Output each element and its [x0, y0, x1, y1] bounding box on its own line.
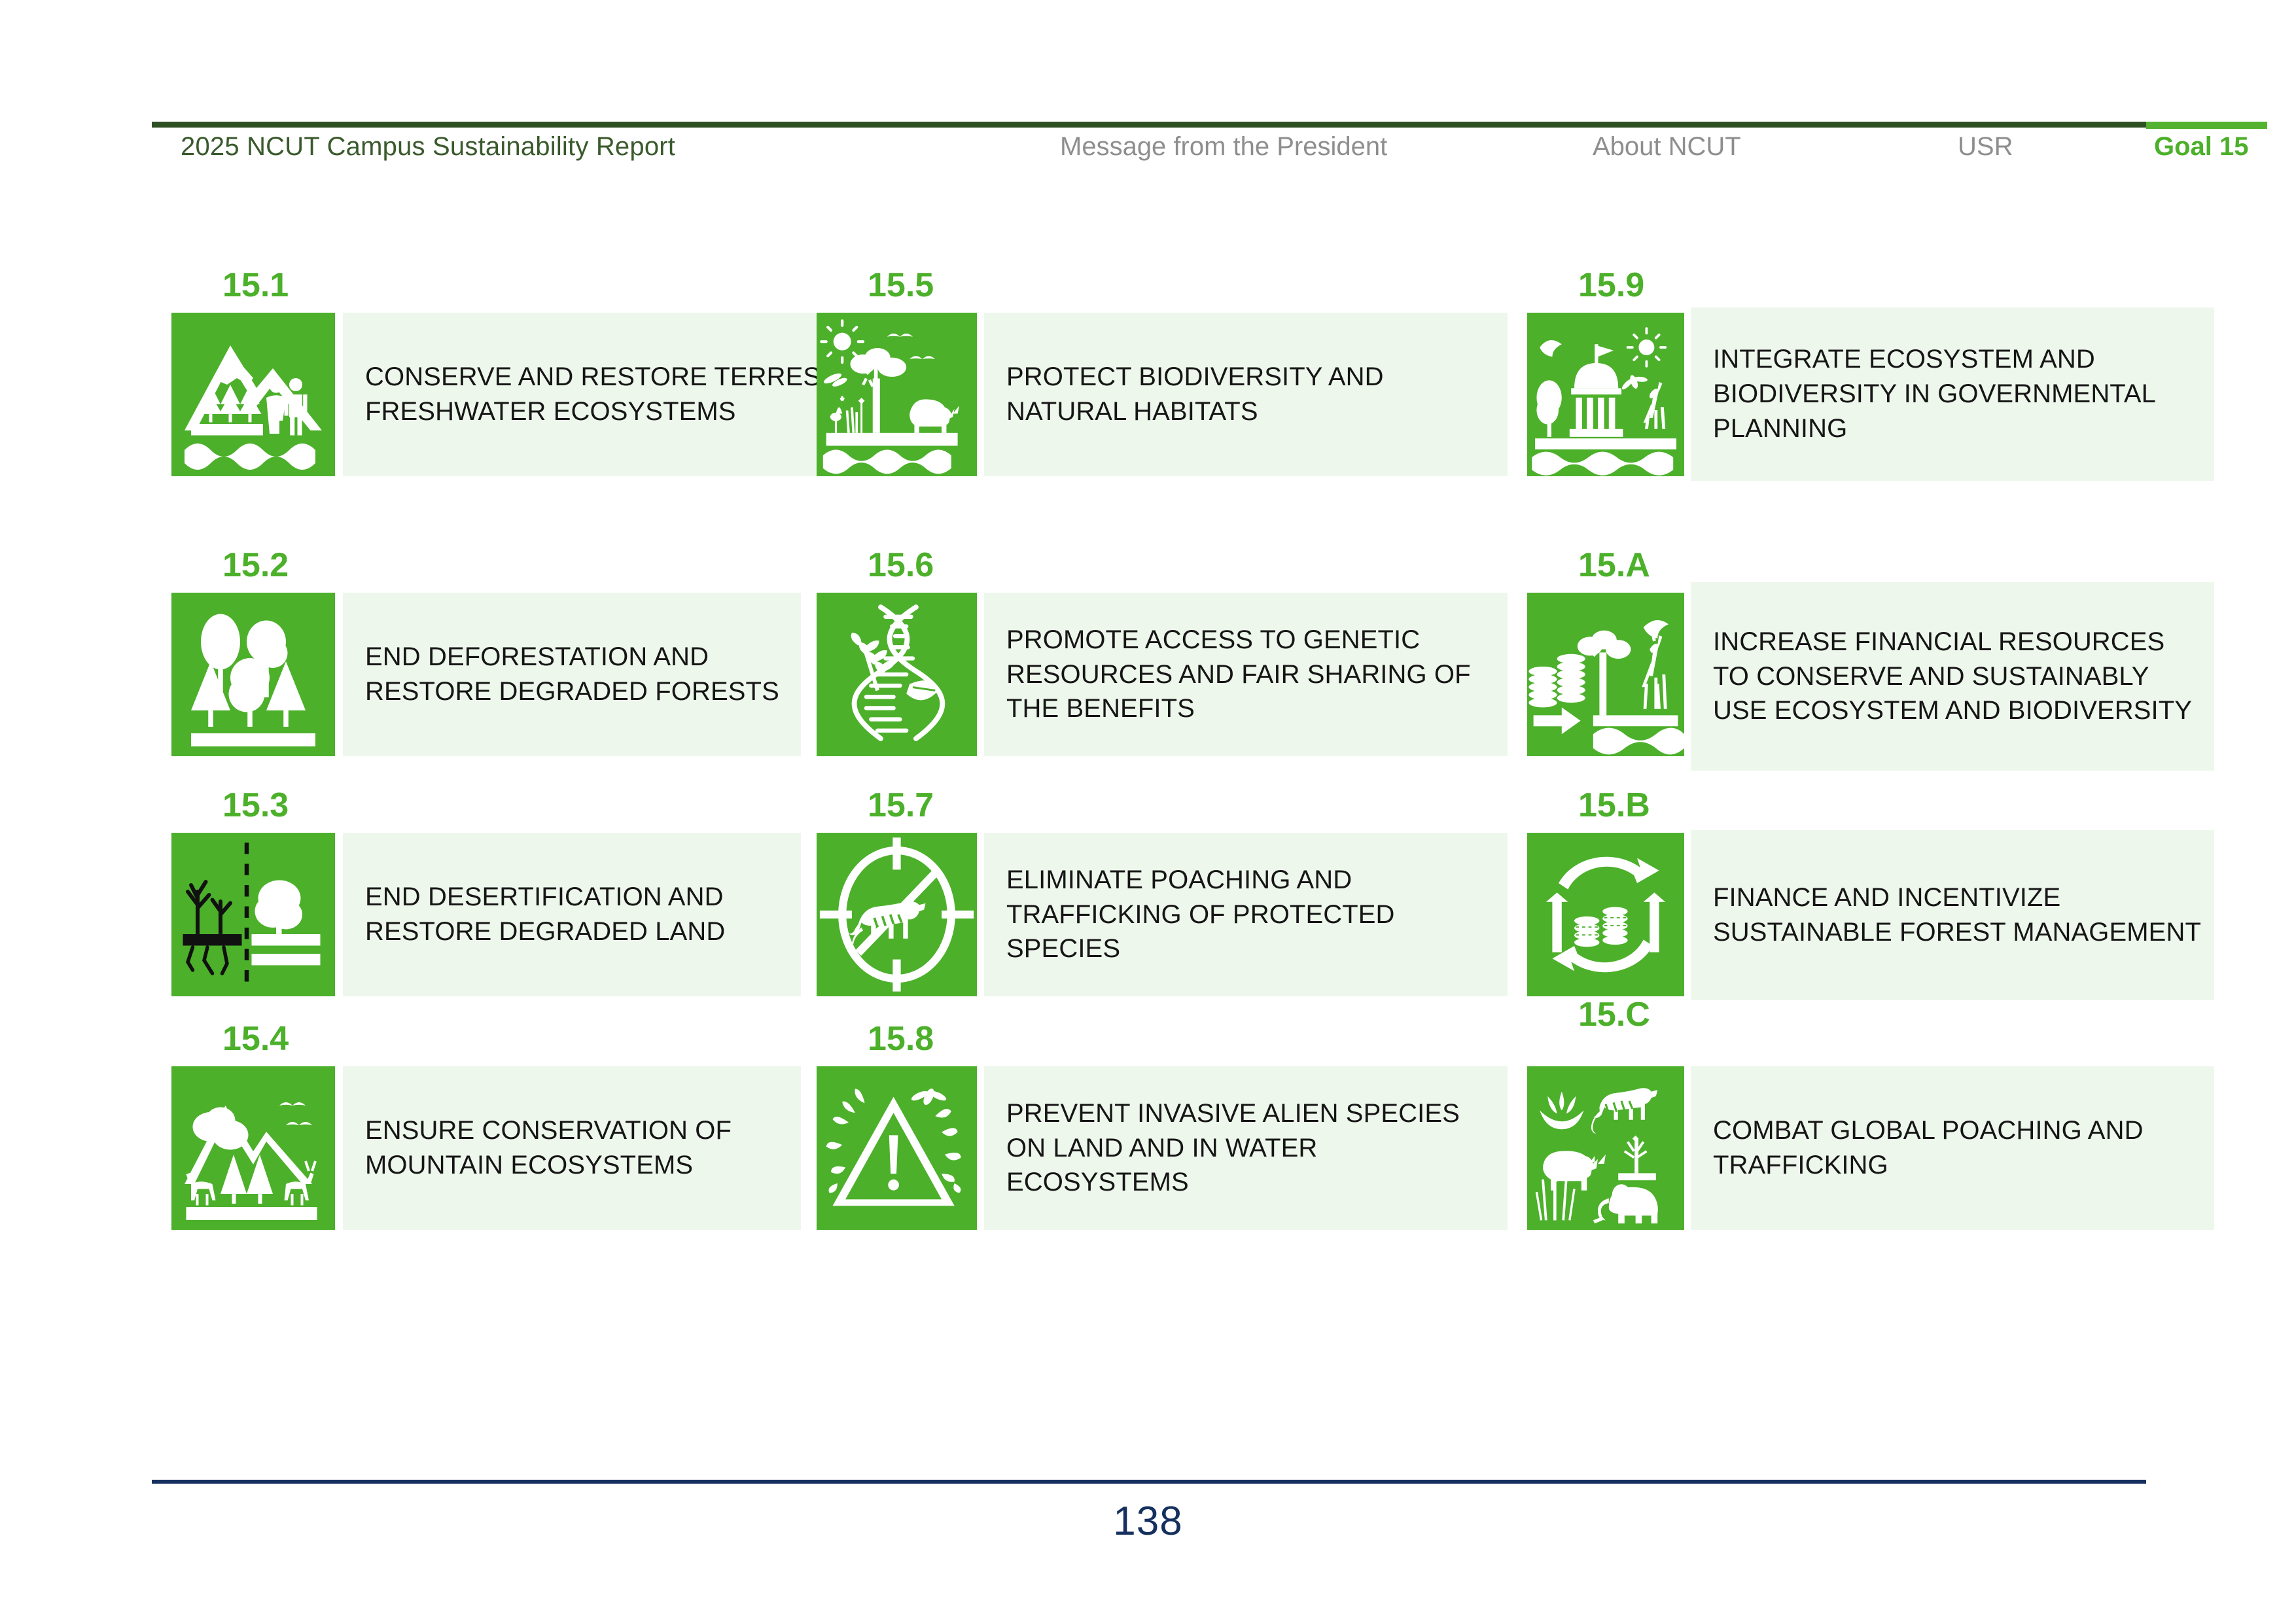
report-page: 2025 NCUT Campus Sustainability Report M… [0, 0, 2296, 1623]
target-number-15-c: 15.C [1578, 998, 1650, 1032]
target-number-15-4: 15.4 [222, 1022, 289, 1056]
target-text-15-3: END DESERTIFICATION AND RESTORE DEGRADED… [343, 880, 801, 949]
target-text-15-6: PROMOTE ACCESS TO GENETIC RESOURCES AND … [984, 623, 1508, 726]
target-text-15-7: ELIMINATE POACHING AND TRAFFICKING OF PR… [984, 863, 1508, 966]
target-number-15-7: 15.7 [868, 788, 934, 822]
target-text-15-b: FINANCE AND INCENTIVIZE SUSTAINABLE FORE… [1691, 881, 2214, 950]
target-panel-15-2: END DEFORESTATION AND RESTORE DEGRADED F… [343, 593, 801, 756]
target-panel-15-5: PROTECT BIODIVERSITY AND NATURAL HABITAT… [984, 313, 1508, 476]
target-number-15-6: 15.6 [868, 548, 934, 582]
government-building-nature-icon [1527, 313, 1684, 476]
target-panel-15-6: PROMOTE ACCESS TO GENETIC RESOURCES AND … [984, 593, 1508, 756]
target-number-15-8: 15.8 [868, 1022, 934, 1056]
target-number-15-b: 15.B [1578, 788, 1650, 822]
target-text-15-5: PROTECT BIODIVERSITY AND NATURAL HABITAT… [984, 360, 1508, 429]
target-panel-15-b: FINANCE AND INCENTIVIZE SUSTAINABLE FORE… [1691, 830, 2214, 1000]
crosshair-tiger-noposition-icon [817, 833, 977, 996]
page-number: 138 [0, 1498, 2296, 1544]
targets-grid: 15.1 [0, 0, 2296, 1623]
target-text-15-a: INCREASE FINANCIAL RESOURCES TO CONSERVE… [1691, 625, 2214, 728]
footer-rule [152, 1480, 2146, 1484]
target-number-15-5: 15.5 [868, 268, 934, 302]
target-panel-15-8: PREVENT INVASIVE ALIEN SPECIES ON LAND A… [984, 1066, 1508, 1230]
target-panel-15-3: END DESERTIFICATION AND RESTORE DEGRADED… [343, 833, 801, 996]
dna-wheat-leaf-icon [817, 593, 977, 756]
warning-triangle-invasive-icon [817, 1066, 977, 1230]
target-panel-15-c: COMBAT GLOBAL POACHING AND TRAFFICKING [1691, 1066, 2214, 1230]
wildlife-grid-icon [1527, 1066, 1684, 1230]
target-text-15-c: COMBAT GLOBAL POACHING AND TRAFFICKING [1691, 1113, 2214, 1183]
desertification-split-land-icon [171, 833, 335, 996]
forest-trees-icon [171, 593, 335, 756]
target-number-15-9: 15.9 [1578, 268, 1644, 302]
target-number-15-3: 15.3 [222, 788, 289, 822]
coins-arrow-giraffe-icon [1527, 593, 1684, 756]
target-text-15-9: INTEGRATE ECOSYSTEM AND BIODIVERSITY IN … [1691, 342, 2214, 445]
recycle-coins-trees-icon [1527, 833, 1684, 996]
mountain-wildlife-icon [171, 1066, 335, 1230]
target-number-15-2: 15.2 [222, 548, 289, 582]
target-panel-15-4: ENSURE CONSERVATION OF MOUNTAIN ECOSYSTE… [343, 1066, 801, 1230]
target-text-15-4: ENSURE CONSERVATION OF MOUNTAIN ECOSYSTE… [343, 1113, 801, 1183]
mountain-forest-people-water-icon [171, 313, 335, 476]
target-panel-15-7: ELIMINATE POACHING AND TRAFFICKING OF PR… [984, 833, 1508, 996]
target-text-15-8: PREVENT INVASIVE ALIEN SPECIES ON LAND A… [984, 1096, 1508, 1200]
target-number-15-a: 15.A [1578, 548, 1650, 582]
target-text-15-2: END DEFORESTATION AND RESTORE DEGRADED F… [343, 640, 801, 709]
target-panel-15-9: INTEGRATE ECOSYSTEM AND BIODIVERSITY IN … [1691, 307, 2214, 481]
target-number-15-1: 15.1 [222, 268, 289, 302]
savanna-rhino-baobab-icon [817, 313, 977, 476]
target-panel-15-a: INCREASE FINANCIAL RESOURCES TO CONSERVE… [1691, 582, 2214, 771]
